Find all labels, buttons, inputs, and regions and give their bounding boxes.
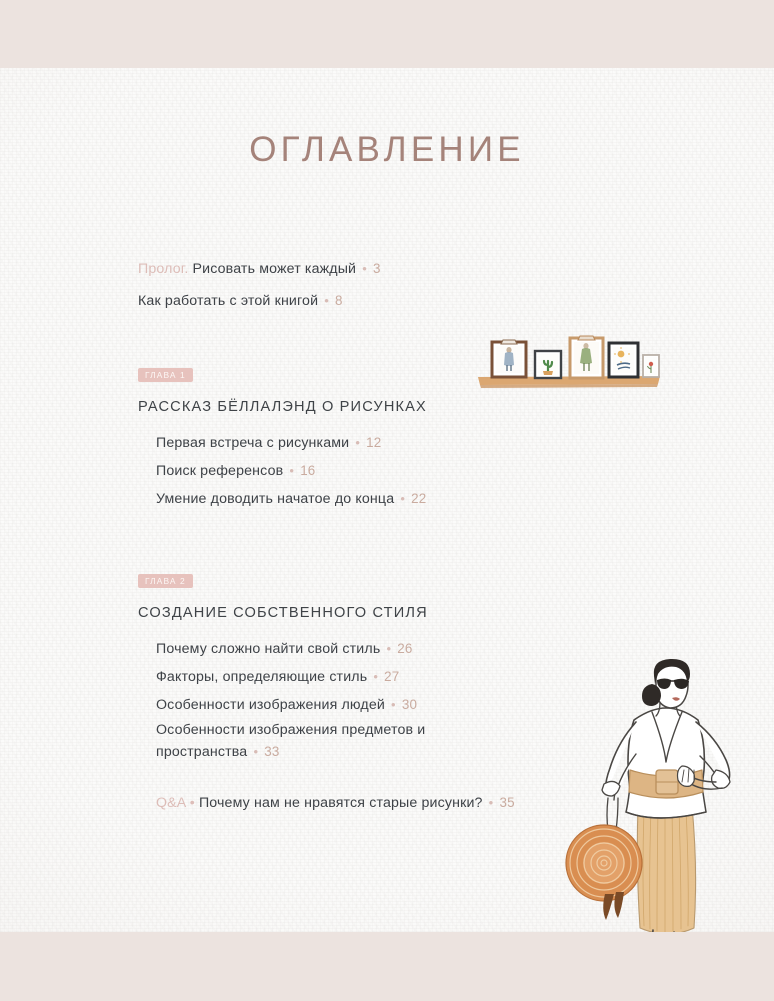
toc-entry[interactable]: Пролог. Рисовать может каждый • 3 bbox=[138, 253, 608, 285]
toc-entry[interactable]: Поиск референсов • 16 bbox=[156, 457, 608, 485]
toc-entry[interactable]: Как работать с этой книгой • 8 bbox=[138, 285, 608, 317]
chapter-badge: ГЛАВА 1 bbox=[138, 368, 193, 382]
entry-page-number: 35 bbox=[499, 795, 514, 810]
entry-text: Особенности изображения людей bbox=[156, 697, 385, 713]
entry-text: Факторы, определяющие стиль bbox=[156, 669, 367, 685]
entry-dot: • bbox=[360, 261, 369, 276]
toc-entry[interactable]: Первая встреча с рисунками • 12 bbox=[156, 429, 608, 457]
straw-hat bbox=[566, 825, 642, 920]
chapter-badge: ГЛАВА 2 bbox=[138, 574, 193, 588]
entry-text: Первая встреча с рисунками bbox=[156, 435, 349, 451]
entry-dot: • bbox=[371, 669, 380, 684]
entry-page-number: 33 bbox=[264, 744, 279, 759]
entry-dot: • bbox=[398, 491, 407, 506]
head bbox=[642, 659, 690, 716]
frame-red-flower bbox=[643, 355, 659, 377]
blouse bbox=[626, 708, 706, 818]
entry-dot: • bbox=[389, 697, 398, 712]
entry-text: Почему сложно найти свой стиль bbox=[156, 641, 380, 657]
chapter-title[interactable]: СОЗДАНИЕ СОБСТВЕННОГО СТИЛЯ bbox=[138, 605, 608, 621]
chapter-title[interactable]: РАССКАЗ БЁЛЛАЛЭНД О РИСУНКАХ bbox=[138, 399, 608, 415]
toc-entry[interactable]: Особенности изображения предметов и прос… bbox=[156, 719, 486, 763]
toc-entry[interactable]: Умение доводить начатое до конца • 22 bbox=[156, 485, 608, 513]
section-spacer bbox=[138, 513, 608, 571]
chapter-block-1: ГЛАВА 1 РАССКАЗ БЁЛЛАЛЭНД О РИСУНКАХ Пер… bbox=[138, 365, 608, 513]
toc-entry[interactable]: Особенности изображения людей • 30 bbox=[156, 691, 608, 719]
entry-dot: • bbox=[287, 463, 296, 478]
chapter-items: Первая встреча с рисунками • 12 Поиск ре… bbox=[138, 429, 608, 513]
entry-dot: • bbox=[353, 435, 362, 450]
entry-spacer bbox=[156, 763, 608, 789]
entry-text: Умение доводить начатое до конца bbox=[156, 491, 394, 507]
entry-page-number: 12 bbox=[366, 435, 381, 450]
entry-page-number: 3 bbox=[373, 261, 381, 276]
chapter-block-2: ГЛАВА 2 СОЗДАНИЕ СОБСТВЕННОГО СТИЛЯ Поче… bbox=[138, 571, 608, 817]
entry-page-number: 27 bbox=[384, 669, 399, 684]
entry-dot: • bbox=[487, 795, 496, 810]
toc-entry[interactable]: Q&A • Почему нам не нравятся старые рису… bbox=[156, 789, 608, 817]
chapter-items: Почему сложно найти свой стиль • 26 Факт… bbox=[138, 635, 608, 817]
toc-content: Пролог. Рисовать может каждый • 3 Как ра… bbox=[138, 253, 608, 817]
entry-text: Почему нам не нравятся старые рисунки? bbox=[199, 795, 483, 811]
entry-dot: • bbox=[251, 744, 260, 759]
entry-page-number: 30 bbox=[402, 697, 417, 712]
entry-page-number: 26 bbox=[397, 641, 412, 656]
entry-page-number: 8 bbox=[335, 293, 343, 308]
entry-lead: Q&A • bbox=[156, 795, 195, 811]
woman-illustration bbox=[556, 658, 774, 932]
entry-text: Особенности изображения предметов и прос… bbox=[156, 722, 425, 760]
entry-text: Поиск референсов bbox=[156, 463, 283, 479]
entry-text: Как работать с этой книгой bbox=[138, 293, 318, 309]
entry-lead: Пролог. bbox=[138, 261, 188, 277]
entry-page-number: 16 bbox=[300, 463, 315, 478]
entry-page-number: 22 bbox=[411, 491, 426, 506]
book-page-sheet: ОГЛАВЛЕНИЕ bbox=[0, 68, 774, 932]
toc-entry[interactable]: Почему сложно найти свой стиль • 26 bbox=[156, 635, 608, 663]
entry-dot: • bbox=[322, 293, 331, 308]
frame-sun-feather bbox=[609, 343, 638, 377]
page-title: ОГЛАВЛЕНИЕ bbox=[0, 130, 774, 170]
section-spacer bbox=[138, 317, 608, 365]
entry-dot: • bbox=[384, 641, 393, 656]
skirt bbox=[637, 806, 695, 932]
toc-entry[interactable]: Факторы, определяющие стиль • 27 bbox=[156, 663, 608, 691]
entry-text: Рисовать может каждый bbox=[193, 261, 357, 277]
intro-entries-group: Пролог. Рисовать может каждый • 3 Как ра… bbox=[138, 253, 608, 317]
